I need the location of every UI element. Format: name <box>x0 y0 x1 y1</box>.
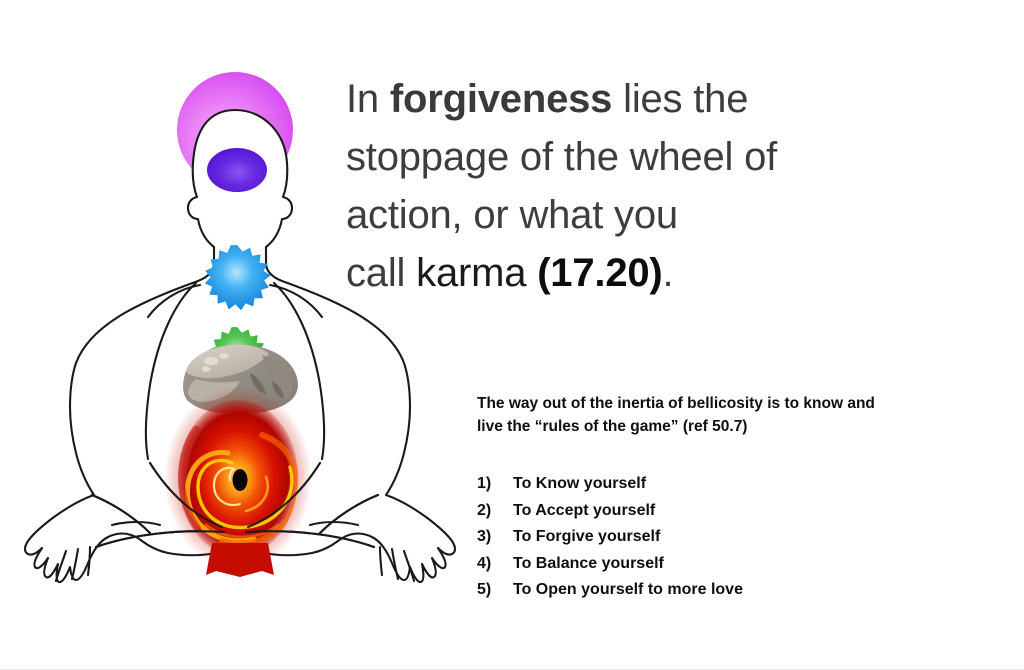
third-eye-chakra-icon <box>207 148 267 192</box>
list-item-label: To Forgive yourself <box>513 524 997 551</box>
body-intro-line2: live the “rules of the game” (ref 50.7) <box>477 418 747 435</box>
headline-line1-prefix: In <box>346 77 390 121</box>
root-base-shape <box>206 543 274 577</box>
list-item-number: 4) <box>477 551 513 578</box>
list-item-number: 2) <box>477 498 513 525</box>
rules-list: 1) To Know yourself 2) To Accept yoursel… <box>477 471 997 604</box>
headline-keyword-karma: karma <box>416 251 537 295</box>
headline-keyword-forgiveness: forgiveness <box>390 77 612 121</box>
list-item: 3) To Forgive yourself <box>477 524 997 551</box>
list-item: 1) To Know yourself <box>477 471 997 498</box>
list-item-label: To Balance yourself <box>513 551 997 578</box>
list-item-number: 3) <box>477 524 513 551</box>
root-vortex-icon <box>164 386 312 570</box>
headline-line1-suffix: lies the <box>612 77 748 121</box>
headline-line4-prefix: call <box>346 251 416 295</box>
body-intro-line1: The way out of the inertia of bellicosit… <box>477 395 875 412</box>
list-item: 4) To Balance yourself <box>477 551 997 578</box>
body-intro: The way out of the inertia of bellicosit… <box>477 392 997 438</box>
list-item-number: 1) <box>477 471 513 498</box>
list-item-label: To Know yourself <box>513 471 997 498</box>
headline-reference: (17.20) <box>537 251 662 295</box>
list-item: 5) To Open yourself to more love <box>477 577 997 604</box>
list-item: 2) To Accept yourself <box>477 498 997 525</box>
headline-text: In forgiveness lies the stoppage of the … <box>346 70 906 302</box>
list-item-number: 5) <box>477 577 513 604</box>
headline-line2: stoppage of the wheel of <box>346 135 777 179</box>
body-paragraph: The way out of the inertia of bellicosit… <box>477 392 997 438</box>
list-item-label: To Open yourself to more love <box>513 577 997 604</box>
headline-line4-end: . <box>663 251 674 295</box>
headline-line3: action, or what you <box>346 193 678 237</box>
slide-canvas: In forgiveness lies the stoppage of the … <box>0 0 1024 670</box>
list-item-label: To Accept yourself <box>513 498 997 525</box>
